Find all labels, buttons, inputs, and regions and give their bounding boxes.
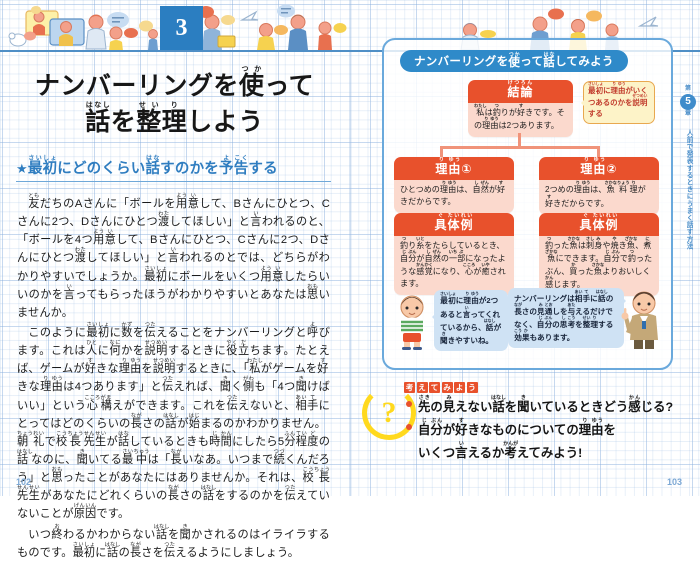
diagram-card: ナンバーリングを使つかって話はなしてみよう 結けつ論ろん 私わたしは釣つりが好す… [382,38,673,370]
connector-horizontal [440,146,600,149]
speech-bubble-student: 最さい初しょに理り由ゆうが2つあると言いってくれているから、話はなしが聞ききやす… [434,290,508,351]
section-heading: ★最さい初しょにどのくらい話はなすのかを予よ告こくする [16,156,331,182]
right-page: ナンバーリングを使つかって話はなしてみよう 結けつ論ろん 私わたしは釣つりが好す… [352,52,700,496]
node-reason-2-header: 理り由ゆう② [539,157,659,180]
teacher-illustration [620,288,664,350]
chapter-number: 5 [680,94,696,110]
think-question-list: 先さきの見みえない話はなしを聞きいているときどう感かんじる? 自じ分ぶんが好すき… [406,395,696,463]
node-example-1-body: 釣つり糸いとをたらしているとき、自じ分ぶんが自し然ぜんの一いち部ぶになったような… [394,236,514,295]
bullet-icon [406,424,412,430]
page-title: ナンバーリングを使つかって 話はなしを整せい理りしよう [0,66,349,138]
body-text: 友ともだちのAさんに「ボールを用よう意いして、Bさんにひとつ、Cさんに2つ、Dさ… [17,193,330,562]
node-example-1-header: 具ぐ体たい例れい [394,213,514,236]
node-example-1: 具ぐ体たい例れい 釣つり糸いとをたらしているとき、自じ分ぶんが自し然ぜんの一いち… [394,213,514,295]
think-label-char-5: う [467,382,478,393]
paragraph-2: このように最さい初しょに数かずを伝つたえることをナンバーリングと呼よびます。これ… [17,322,330,524]
callout-note: 最さい初しょに理り由ゆうがいくつあるのかを説せつ明めいする [583,81,655,124]
node-reason-2-body: 2つめの理り由ゆうは、魚さかな料りょう理りが好すきだからです。 [539,180,659,215]
paragraph-3: いつ終おわるかわからない話はなしを聞きかされるのはイライラするものです。最さい初… [17,524,330,562]
star-icon: ★ [16,161,28,176]
node-reason-2: 理り由ゆう② 2つめの理り由ゆうは、魚さかな料りょう理りが好すきだからです。 [539,157,659,215]
bullet-icon [406,401,412,407]
think-label-char-0: 考 [404,382,415,393]
node-conclusion-header: 結けつ論ろん [468,80,573,103]
think-label-char-4: よ [454,382,465,393]
left-page: ナンバーリングを使つかって 話はなしを整せい理りしよう ★最さい初しょにどのくら… [0,52,349,496]
diagram-card-title: ナンバーリングを使つかって話はなしてみよう [400,50,628,72]
think-question-2: 自じ分ぶんが好すきなものについての理り由ゆうを [406,418,696,440]
paragraph-1: 友ともだちのAさんに「ボールを用よう意いして、Bさんにひとつ、Cさんに2つ、Dさ… [17,193,330,322]
speech-bubble-teacher: ナンバーリングは相あい手てに話はなしの長ながさの見み通とおしを与あたえるだけでな… [508,288,624,348]
think-label: 考 え て み よ う [404,382,478,393]
think-label-char-2: て [429,382,440,393]
connector-vertical-main [518,133,521,147]
boy-illustration [392,292,432,350]
think-label-char-3: み [442,382,453,393]
node-reason-1-header: 理り由ゆう① [394,157,514,180]
chapter-title: 人前で発表するときにうまく話す方法 [684,119,692,259]
page-number-left: 102 [16,477,31,487]
chapter-prefix: 第 [679,86,697,93]
think-section: ? 考 え て み よ う 先さきの見みえない話はなしを聞きいているときどう感か… [362,382,692,467]
section-number-badge: 3 [160,6,203,50]
node-reason-1-body: ひとつめの理り由ゆうは、自し然ぜんが好すきだからです。 [394,180,514,213]
node-conclusion: 結けつ論ろん 私わたしは釣つりが好すきです。その理り由ゆうは2つあります。 [468,80,573,137]
think-question-1: 先さきの見みえない話はなしを聞きいているときどう感かんじる? [406,395,696,417]
node-example-2-header: 具ぐ体たい例れい [539,213,659,236]
chapter-tab: 第 5 章 人前で発表するときにうまく話す方法 [679,86,697,259]
chapter-suffix: 章 [679,111,697,118]
node-example-2: 具ぐ体たい例れい 釣つった魚さかなは刺さし身みや焼やき魚ざかな、煮に魚ざかなにで… [539,213,659,296]
node-reason-1: 理り由ゆう① ひとつめの理り由ゆうは、自し然ぜんが好すきだからです。 [394,157,514,213]
think-question-2-cont: いくつ言いえるか考かんがえてみよう! [406,441,696,463]
think-label-char-1: え [417,382,428,393]
